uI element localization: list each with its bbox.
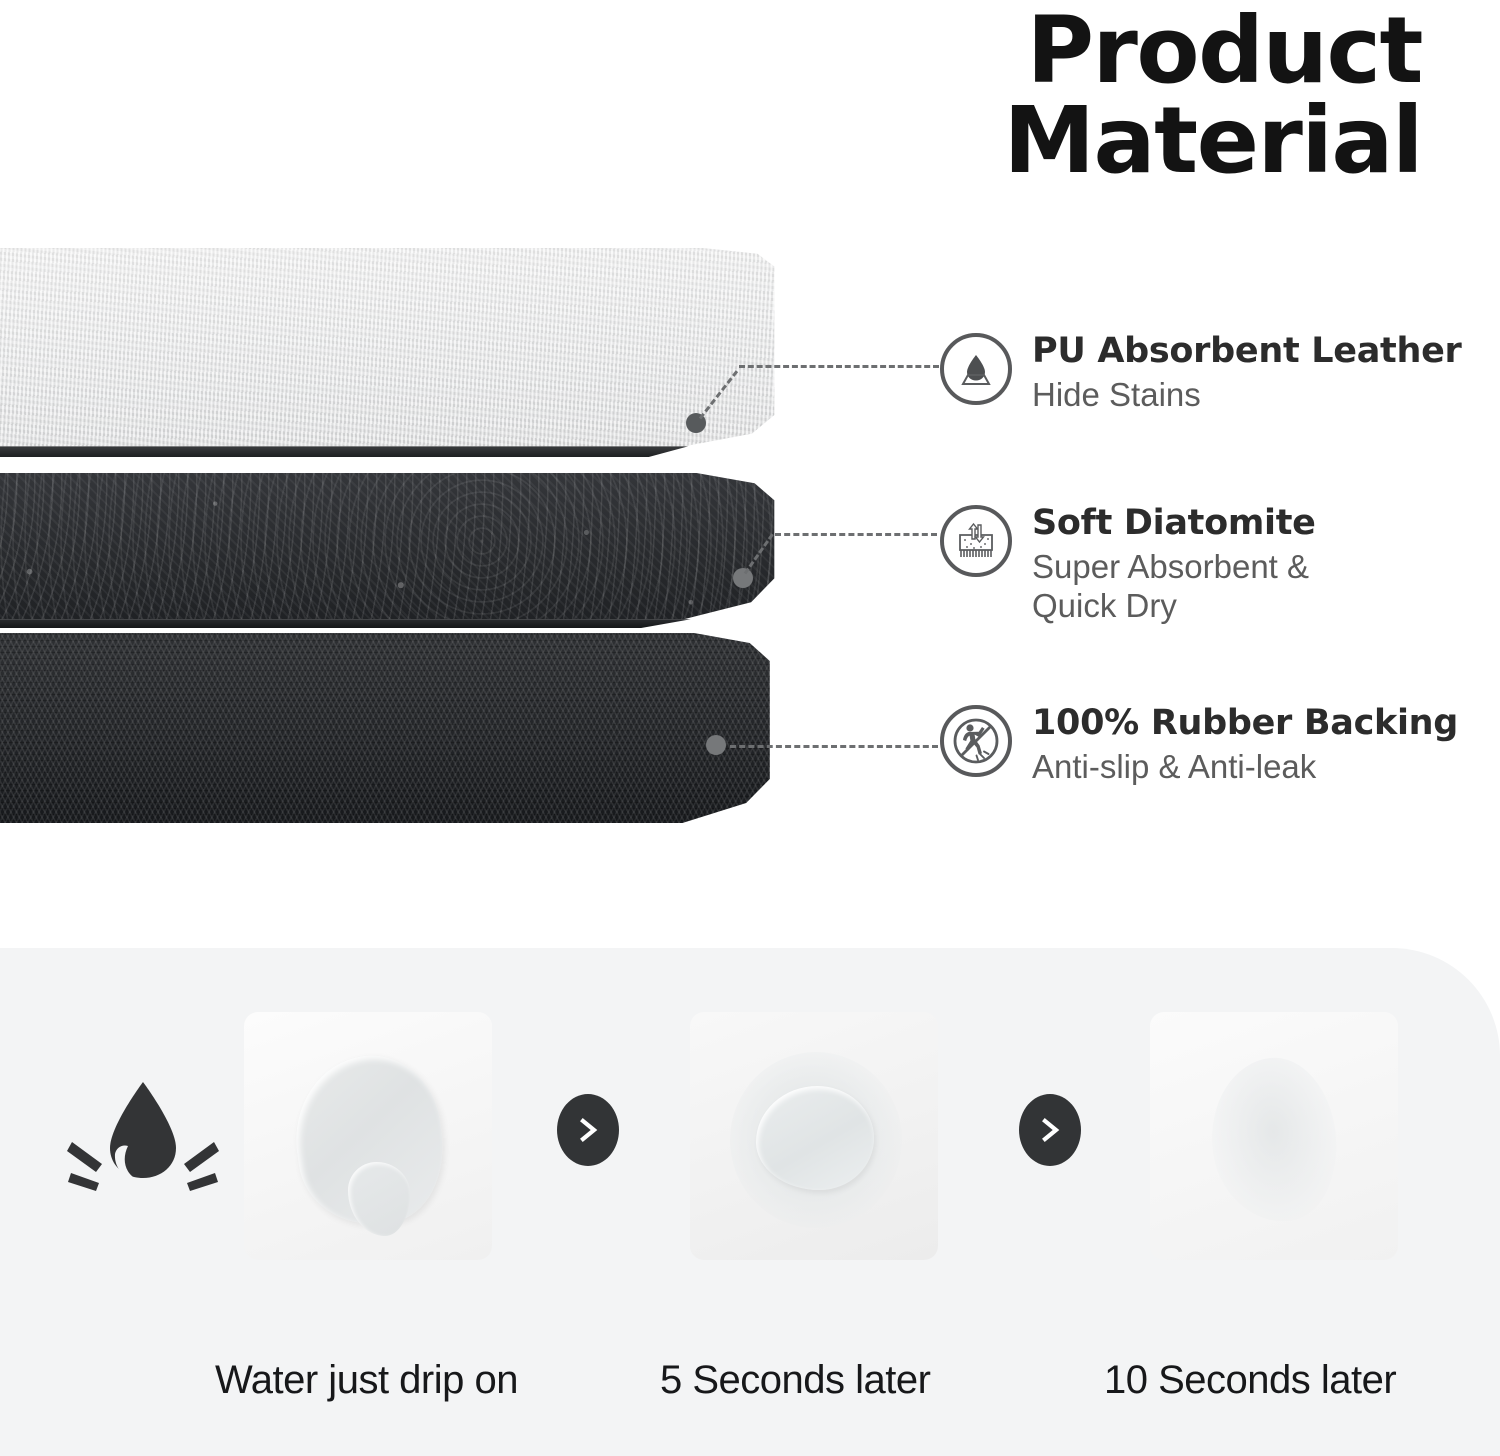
callout-dot-diatomite <box>733 568 753 588</box>
feature-diatomite-title: Soft Diatomite <box>1032 505 1316 542</box>
feature-diatomite-subtitle-line-2: Quick Dry <box>1032 586 1316 626</box>
water-puddle-5s <box>756 1086 874 1190</box>
title-line-2: Material <box>1003 96 1422 186</box>
product-layer-illustration <box>0 248 900 788</box>
chevron-right-icon-2 <box>1019 1094 1081 1166</box>
absorb-evaporate-mat-icon <box>940 505 1012 577</box>
water-demo-caption-2: 5 Seconds later <box>660 1358 930 1403</box>
feature-rubber-text: 100% Rubber Backing Anti-slip & Anti-lea… <box>1032 703 1458 786</box>
pu-leather-surface <box>0 248 790 480</box>
feature-rubber-subtitle-line-1: Anti-slip & Anti-leak <box>1032 747 1458 787</box>
leader-line-diatomite <box>775 533 937 536</box>
rubber-backing-surface <box>0 633 850 833</box>
water-demo-caption-1: Water just drip on <box>215 1358 518 1403</box>
water-demo-tile-3 <box>1150 1012 1398 1260</box>
page-title: Product Material <box>1003 6 1422 186</box>
rubber-backing-layer <box>0 633 850 833</box>
water-demo-sequence: Water just drip on 5 Seconds later 10 Se… <box>0 1000 1500 1270</box>
feature-pu-text: PU Absorbent Leather Hide Stains <box>1032 331 1461 414</box>
droplet-on-mat-icon <box>940 333 1012 405</box>
pu-leather-edge <box>0 446 688 457</box>
chevron-right-icon-1 <box>557 1094 619 1166</box>
water-puddle-initial-tail <box>348 1162 410 1236</box>
water-absorption-demo-panel: Water just drip on 5 Seconds later 10 Se… <box>0 948 1500 1456</box>
leader-line-rubber <box>730 745 938 748</box>
feature-diatomite-subtitle-line-1: Super Absorbent & <box>1032 547 1316 587</box>
diatomite-surface <box>0 473 830 643</box>
feature-soft-diatomite: Soft Diatomite Super Absorbent & Quick D… <box>940 503 1316 626</box>
water-demo-caption-3: 10 Seconds later <box>1104 1358 1396 1403</box>
water-splash-drop-icon <box>58 1078 228 1198</box>
water-demo-tile-1 <box>244 1012 492 1260</box>
water-puddle-10s <box>1204 1052 1344 1228</box>
feature-diatomite-text: Soft Diatomite Super Absorbent & Quick D… <box>1032 503 1316 626</box>
title-line-1: Product <box>1003 6 1422 96</box>
feature-pu-absorbent-leather: PU Absorbent Leather Hide Stains <box>940 331 1461 414</box>
callout-dot-rubber <box>706 735 726 755</box>
feature-rubber-backing: 100% Rubber Backing Anti-slip & Anti-lea… <box>940 703 1458 786</box>
leader-line-pu <box>739 365 939 368</box>
feature-pu-title: PU Absorbent Leather <box>1032 333 1461 370</box>
no-slip-person-icon <box>940 705 1012 777</box>
diatomite-layer <box>0 473 830 643</box>
water-demo-tile-2 <box>690 1012 938 1260</box>
pu-leather-layer <box>0 248 790 480</box>
feature-rubber-title: 100% Rubber Backing <box>1032 705 1458 742</box>
feature-pu-subtitle-line-1: Hide Stains <box>1032 375 1461 415</box>
diatomite-edge <box>0 619 691 628</box>
